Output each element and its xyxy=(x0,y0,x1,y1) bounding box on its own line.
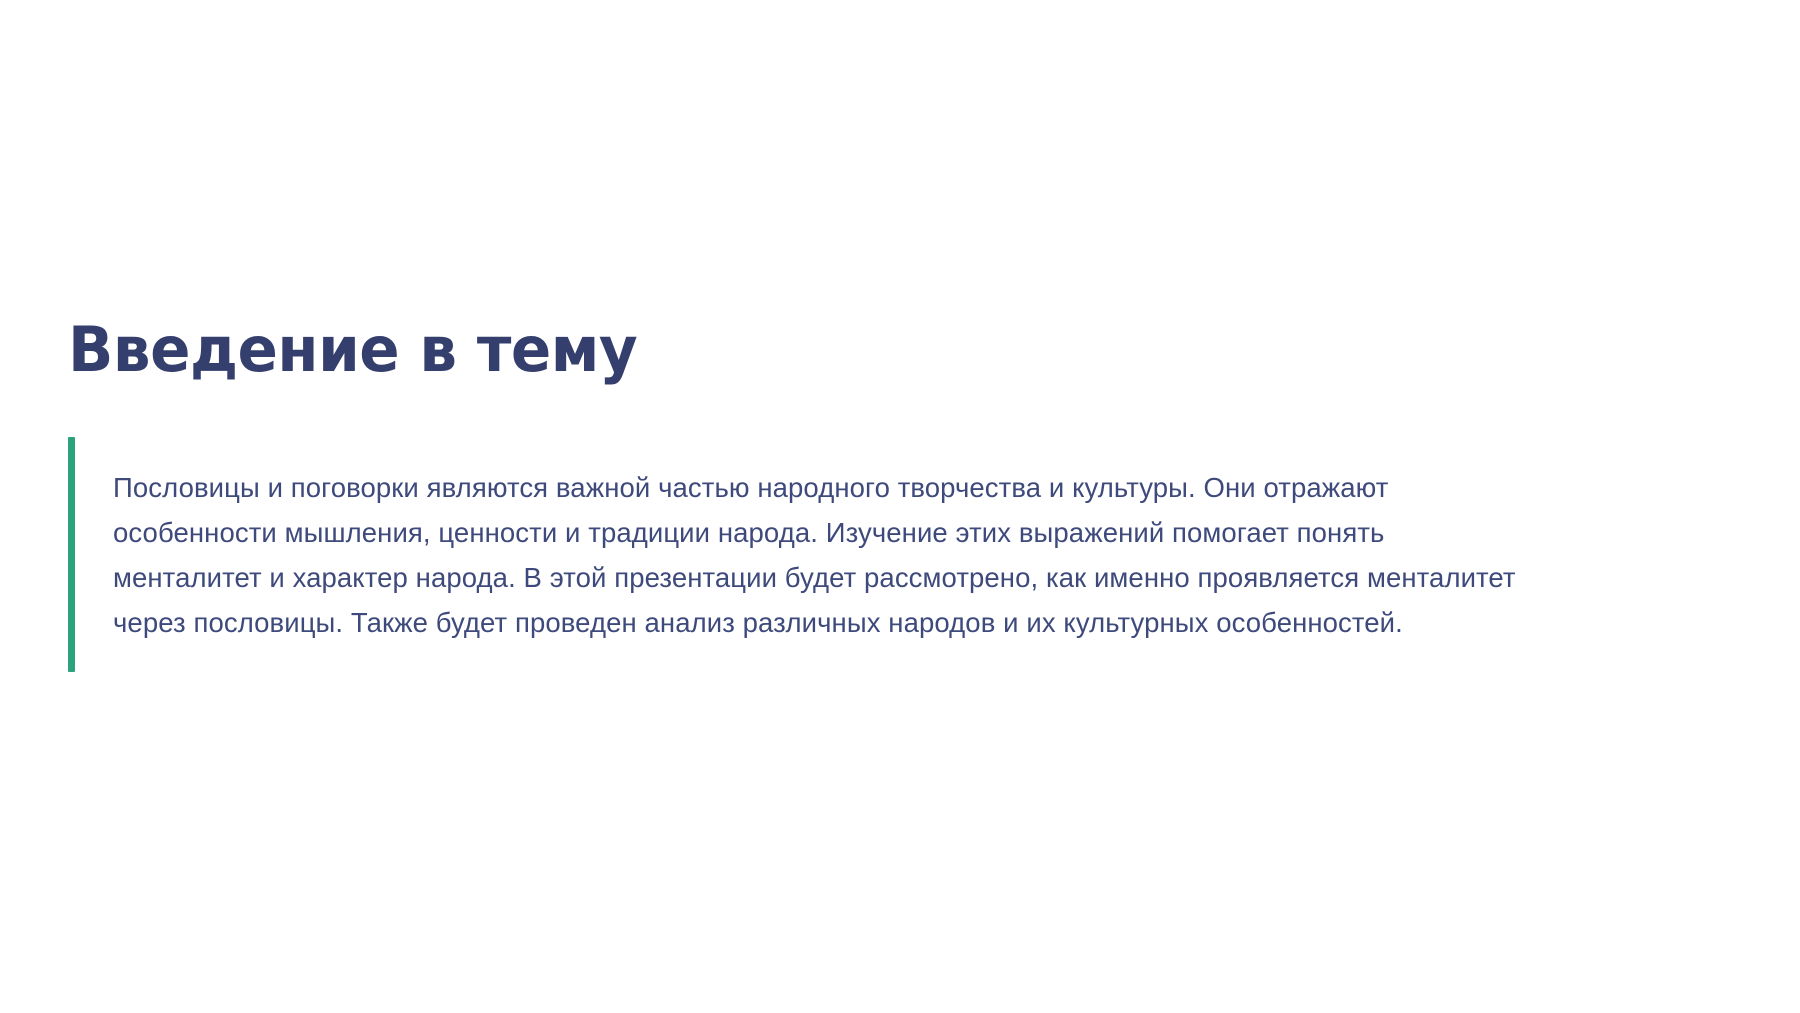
presentation-slide: Введение в тему Пословицы и поговорки яв… xyxy=(0,0,1800,1013)
body-block: Пословицы и поговорки являются важной ча… xyxy=(68,437,1668,672)
accent-bar xyxy=(68,437,75,672)
body-paragraph: Пословицы и поговорки являются важной ча… xyxy=(75,465,1533,645)
page-title: Введение в тему xyxy=(68,317,637,384)
